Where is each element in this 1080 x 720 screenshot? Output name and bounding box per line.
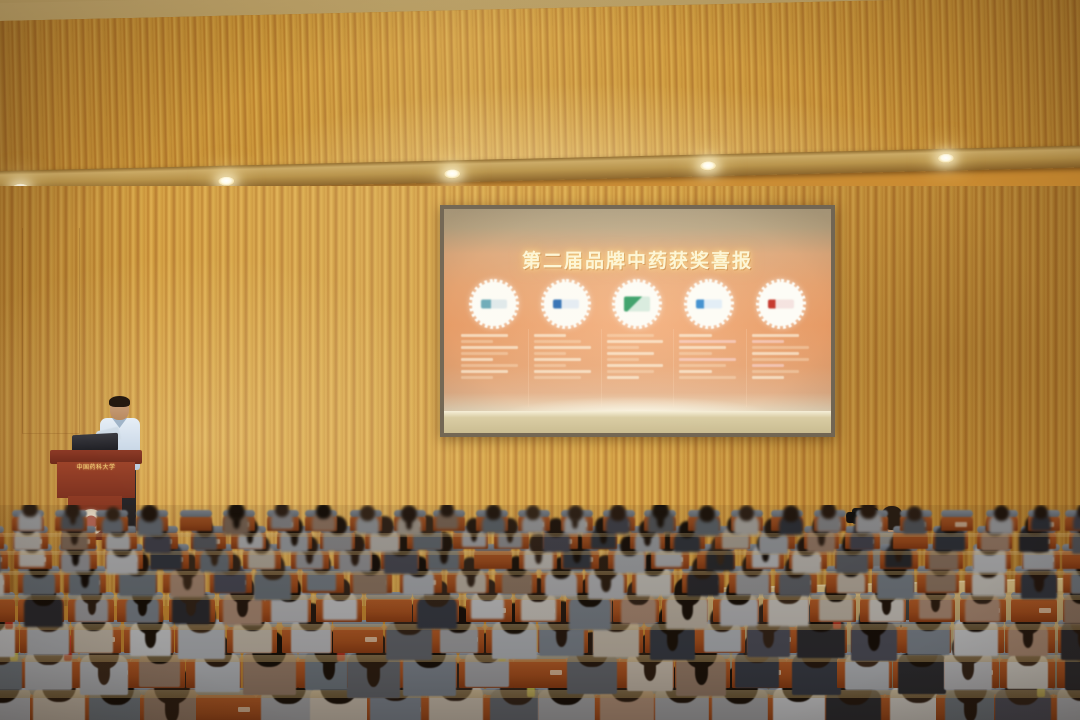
auditorium-seat xyxy=(1011,597,1057,622)
badge-logo-icon xyxy=(481,300,507,309)
seat-number-tag xyxy=(365,637,377,642)
ponytail xyxy=(882,598,891,615)
ponytail xyxy=(367,661,381,687)
projection-screen-frame: 第二届品牌中药获奖喜报 xyxy=(440,205,835,437)
ponytail xyxy=(868,629,880,651)
slide-bottom-band xyxy=(444,411,831,433)
ponytail xyxy=(644,659,656,681)
speaker-hair xyxy=(109,396,130,407)
ponytail xyxy=(763,627,774,648)
auditorium-seat xyxy=(366,597,412,622)
ponytail xyxy=(233,517,240,530)
seat-headrest xyxy=(0,526,4,533)
audience-member-head xyxy=(486,505,501,520)
badge-logo-icon xyxy=(624,297,650,312)
audience-member-head xyxy=(699,505,715,522)
seat-headrest xyxy=(941,510,973,517)
audience-member-head xyxy=(106,507,120,522)
audience-member-head xyxy=(907,506,922,522)
lectern-inscription: 中国药科大学 xyxy=(58,462,134,471)
ponytail xyxy=(237,598,247,617)
award-badge-1 xyxy=(472,282,516,326)
auditorium-seat xyxy=(180,515,212,531)
ponytail xyxy=(695,661,708,685)
audience-member-head xyxy=(610,505,626,521)
seat-headrest xyxy=(180,510,212,517)
award-badge-4 xyxy=(687,282,731,326)
audience-member-head xyxy=(141,505,158,522)
ponytail xyxy=(70,514,76,525)
seat-number-tag xyxy=(238,707,250,712)
audience-member-head xyxy=(821,505,836,519)
audience-member-head xyxy=(275,505,289,517)
projection-screen: 第二届品牌中药获奖喜报 xyxy=(444,209,831,433)
spotlight-icon xyxy=(444,169,460,178)
award-badge-5 xyxy=(759,282,803,326)
ponytail xyxy=(183,573,192,590)
seat-number-tag xyxy=(1039,608,1051,613)
ponytail xyxy=(657,515,664,528)
seat-number-tag xyxy=(550,670,562,675)
audience-member-head xyxy=(316,505,331,519)
desk xyxy=(0,595,1080,600)
ponytail xyxy=(964,697,977,720)
ponytail xyxy=(601,575,610,592)
audience-area xyxy=(0,505,1080,720)
award-badge-2 xyxy=(544,282,588,326)
door-seam xyxy=(22,228,80,434)
ponytail xyxy=(467,573,475,587)
ponytail xyxy=(88,599,96,615)
spotlight-icon xyxy=(700,161,716,170)
ponytail xyxy=(98,662,110,685)
ponytail xyxy=(186,598,196,617)
ponytail xyxy=(145,628,156,648)
seat-number-tag xyxy=(955,522,967,527)
spotlight-icon xyxy=(938,154,954,163)
audience-member-head xyxy=(783,505,798,521)
ponytail xyxy=(682,600,693,620)
desk xyxy=(0,655,1080,662)
auditorium-seat xyxy=(941,515,973,531)
auditorium-photo: 第二届品牌中药获奖喜报 xyxy=(0,0,1080,720)
desk xyxy=(0,624,1080,630)
audience-member-head xyxy=(994,505,1009,521)
ponytail xyxy=(667,629,679,651)
ponytail xyxy=(81,573,89,588)
award-badge-row xyxy=(458,281,817,327)
audience-member-head xyxy=(1034,505,1047,519)
desk xyxy=(0,571,1080,575)
award-badge-3 xyxy=(615,282,659,326)
audience-member-head xyxy=(526,505,540,520)
ponytail xyxy=(406,518,412,530)
audience-member-head xyxy=(440,505,454,517)
badge-logo-icon xyxy=(553,300,579,309)
audience-member-head xyxy=(860,505,877,519)
badge-logo-icon xyxy=(696,300,722,309)
auditorium-seat xyxy=(0,597,15,622)
ponytail xyxy=(1034,575,1043,592)
slide-title: 第二届品牌中药获奖喜报 xyxy=(444,246,831,273)
audience-member-head xyxy=(360,505,375,521)
ponytail xyxy=(165,696,179,720)
ponytail xyxy=(138,600,147,616)
badge-logo-icon xyxy=(768,300,794,309)
spotlight-icon xyxy=(218,177,234,186)
